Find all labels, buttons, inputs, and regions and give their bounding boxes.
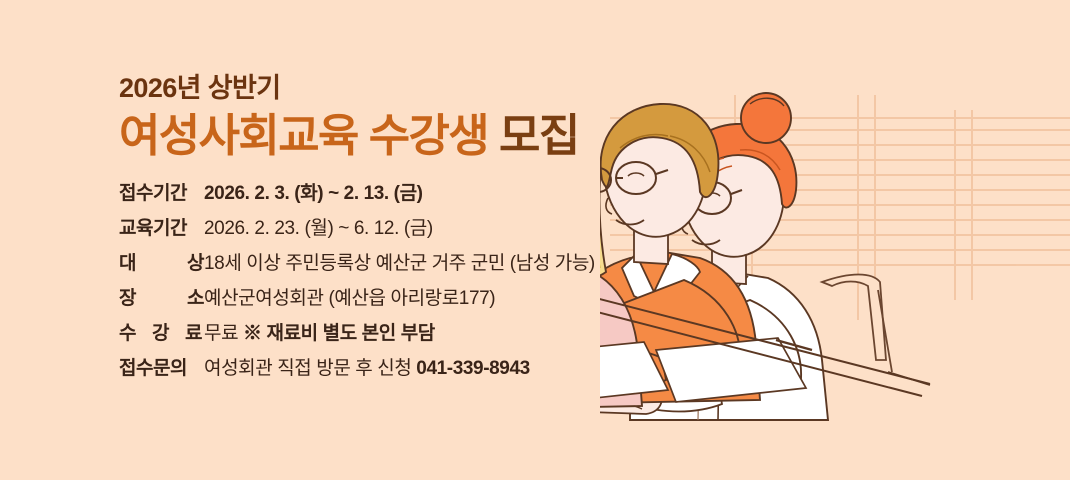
phone-number: 041-339-8943 <box>416 358 530 379</box>
info-value: 2026. 2. 23. (월) ~ 6. 12. (금) <box>204 213 433 240</box>
info-label: 접수기간 <box>119 178 204 205</box>
info-value: 2026. 2. 3. (화) ~ 2. 13. (금) <box>204 178 423 205</box>
text-content-block: 2026년 상반기 여성사회교육 수강생 모집 접수기간 2026. 2. 3.… <box>119 74 659 388</box>
page-title: 여성사회교육 수강생 모집 <box>119 110 659 161</box>
info-row-course-period: 교육기간 2026. 2. 23. (월) ~ 6. 12. (금) <box>119 213 659 248</box>
info-label-char: 료 <box>185 318 202 345</box>
three-students-at-desk-illustration <box>600 0 1070 480</box>
info-row-contact: 접수문의 여성회관 직접 방문 후 신청 041-339-8943 <box>119 353 659 388</box>
info-value-emphasis: ※ 재료비 별도 본인 부담 <box>243 323 435 344</box>
headline-dark-part: 모집 <box>499 110 579 161</box>
info-label-char: 수 <box>119 318 136 345</box>
info-value-plain: 무료 <box>204 323 243 344</box>
info-label-char: 장 <box>119 283 136 310</box>
info-label: 교육기간 <box>119 213 204 240</box>
eyebrow-text: 2026년 상반기 <box>119 74 659 104</box>
headline-accent-part: 여성사회교육 수강생 <box>119 110 488 161</box>
info-label-char: 상 <box>187 248 204 275</box>
info-label: 장 소 <box>119 283 204 310</box>
info-label-char: 대 <box>119 248 136 275</box>
info-row-application-period: 접수기간 2026. 2. 3. (화) ~ 2. 13. (금) <box>119 178 659 213</box>
info-row-location: 장 소 예산군여성회관 (예산읍 아리랑로177) <box>119 283 659 318</box>
info-label: 접수문의 <box>119 353 204 380</box>
info-value: 여성회관 직접 방문 후 신청 041-339-8943 <box>204 353 530 380</box>
info-label-char: 소 <box>187 283 204 310</box>
info-value: 18세 이상 주민등록상 예산군 거주 군민 (남성 가능) <box>204 248 595 275</box>
info-list: 접수기간 2026. 2. 3. (화) ~ 2. 13. (금) 교육기간 2… <box>119 178 659 388</box>
info-label: 대 상 <box>119 248 204 275</box>
info-label-char: 강 <box>152 318 169 345</box>
info-value-plain: 여성회관 직접 방문 후 신청 <box>204 358 416 379</box>
info-row-tuition: 수 강 료 무료 ※ 재료비 별도 본인 부담 <box>119 318 659 353</box>
promotional-banner: 2026년 상반기 여성사회교육 수강생 모집 접수기간 2026. 2. 3.… <box>0 0 1070 480</box>
info-row-eligibility: 대 상 18세 이상 주민등록상 예산군 거주 군민 (남성 가능) <box>119 248 659 283</box>
info-value: 무료 ※ 재료비 별도 본인 부담 <box>204 318 435 345</box>
info-label: 수 강 료 <box>119 318 204 345</box>
info-value: 예산군여성회관 (예산읍 아리랑로177) <box>204 283 495 310</box>
